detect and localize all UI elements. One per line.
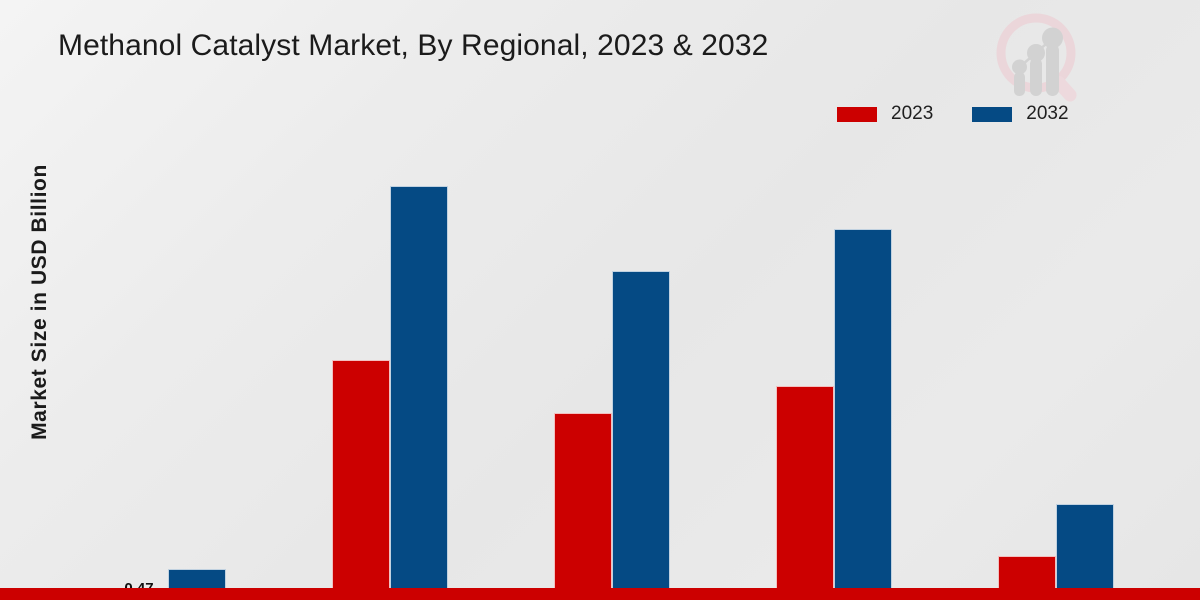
bar-group-south-america: SOUTH AMERICA <box>998 150 1118 514</box>
legend-label-2032: 2032 <box>1026 103 1068 125</box>
bar-group-europe: EUROPE <box>554 150 674 514</box>
watermark-logo <box>988 8 1092 108</box>
footer-accent-band <box>0 588 1200 600</box>
y-axis-label: Market Size in USD Billion <box>28 122 52 482</box>
plot-area: 0.47 MEA APAC EUROPE <box>60 150 1160 514</box>
bar-2032-europe[interactable] <box>612 271 670 600</box>
bar-2023-europe[interactable] <box>554 413 612 600</box>
legend-label-2023: 2023 <box>891 103 933 125</box>
chart-legend: 2023 2032 <box>836 103 1069 125</box>
bar-chart-icon <box>1012 28 1063 97</box>
legend-swatch-2023 <box>836 106 878 123</box>
bar-2032-north-america[interactable] <box>834 229 892 600</box>
bar-2023-north-america[interactable] <box>776 386 834 600</box>
chart-title: Methanol Catalyst Market, By Regional, 2… <box>58 29 768 63</box>
bar-2032-south-america[interactable] <box>1056 504 1114 600</box>
bar-group-apac: APAC <box>332 150 452 514</box>
bar-2032-apac[interactable] <box>390 186 448 600</box>
legend-item-2032[interactable]: 2032 <box>971 103 1068 125</box>
bar-2023-apac[interactable] <box>332 360 390 600</box>
legend-swatch-2032 <box>971 106 1013 123</box>
bar-group-mea: 0.47 MEA <box>110 150 230 514</box>
bar-group-north-america: NORTH AMERICA <box>776 150 896 514</box>
magnifier-icon <box>1001 18 1079 104</box>
chart-canvas: Methanol Catalyst Market, By Regional, 2… <box>0 0 1200 600</box>
legend-item-2023[interactable]: 2023 <box>836 103 933 125</box>
